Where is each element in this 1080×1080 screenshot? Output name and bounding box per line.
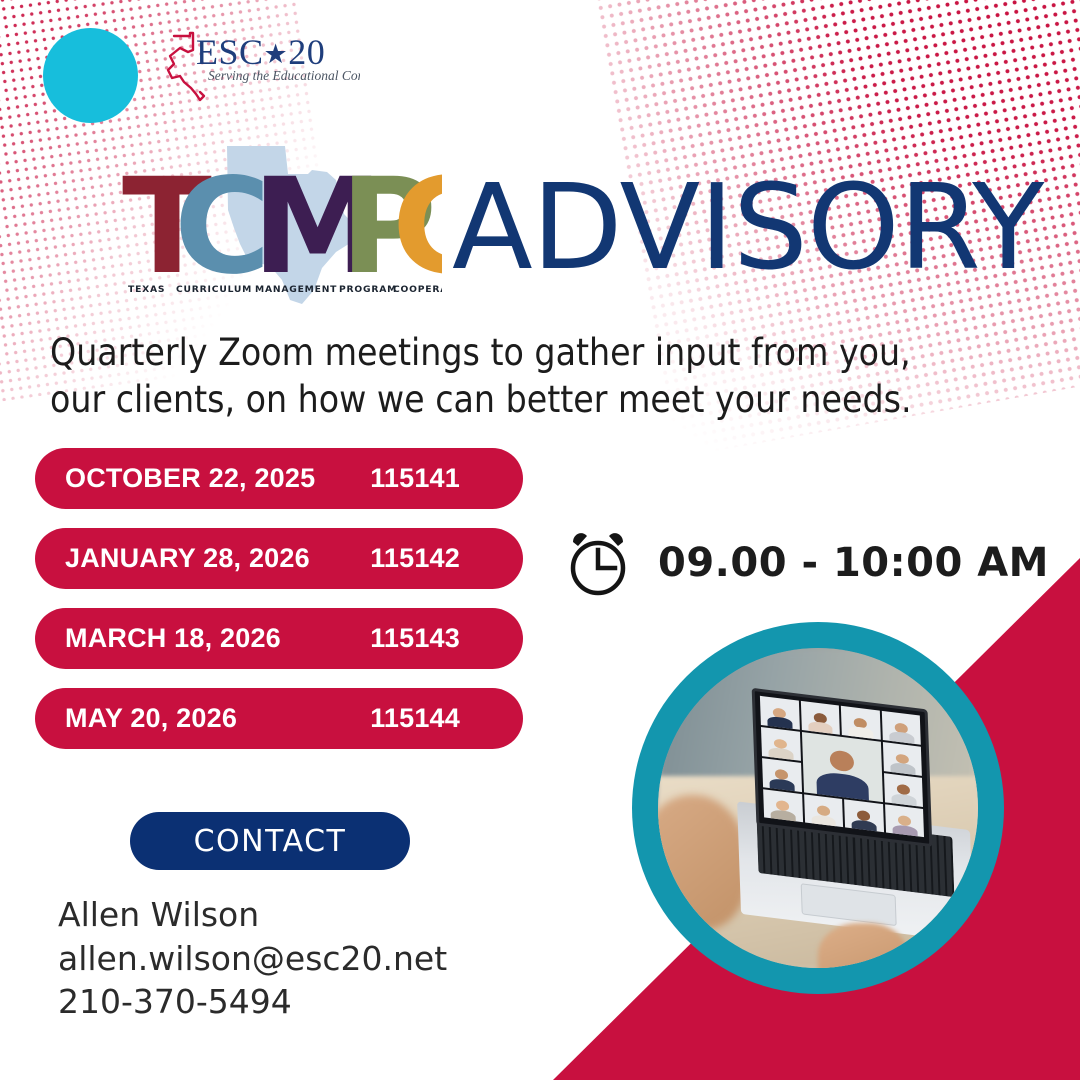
- participant-tile: [883, 742, 922, 776]
- session-pill[interactable]: MARCH 18, 2026 115143: [35, 608, 523, 669]
- meeting-time-text: 09.00 - 10:00 AM: [658, 540, 1049, 586]
- meeting-time-row: 09.00 - 10:00 AM: [560, 525, 1049, 601]
- photo-laptop: [754, 699, 978, 942]
- esc-logo-tagline: Serving the Educational Community: [208, 68, 360, 83]
- participant-tile: [804, 794, 843, 828]
- cyan-circle-decoration: [43, 28, 138, 123]
- video-conference-photo-circle: [632, 622, 1004, 994]
- description-line-1: Quarterly Zoom meetings to gather input …: [50, 330, 1040, 377]
- alarm-clock-icon: [560, 525, 636, 601]
- esc20-logo: ESC★20 Serving the Educational Community: [160, 30, 360, 112]
- page-title: ADVISORY: [452, 168, 1043, 286]
- esc-logo-text: ESC★20: [196, 32, 325, 72]
- tcmpc-word-texas: TEXAS: [128, 284, 165, 295]
- session-code: 115141: [370, 463, 460, 494]
- participant-tile: [761, 727, 800, 761]
- session-code: 115144: [370, 703, 460, 734]
- participant-tile: [881, 711, 920, 745]
- participant-tile: [800, 701, 839, 735]
- session-date: MARCH 18, 2026: [65, 623, 281, 654]
- session-pill[interactable]: OCTOBER 22, 2025 115141: [35, 448, 523, 509]
- tcmpc-word-cooperative: COOPERATIVE: [393, 284, 442, 295]
- participant-tile: [841, 706, 880, 740]
- contact-button[interactable]: CONTACT: [130, 812, 410, 870]
- session-date: MAY 20, 2026: [65, 703, 237, 734]
- session-date: JANUARY 28, 2026: [65, 543, 310, 574]
- flyer-canvas: ESC★20 Serving the Educational Community…: [0, 0, 1080, 1080]
- participant-tile: [762, 758, 801, 792]
- tcmpc-word-curriculum: CURRICULUM: [176, 284, 252, 295]
- session-date: OCTOBER 22, 2025: [65, 463, 315, 494]
- contact-details: Allen Wilson allen.wilson@esc20.net 210-…: [58, 893, 447, 1024]
- laptop-trackpad: [801, 883, 897, 926]
- tcmpc-word-management: MANAGEMENT: [255, 284, 337, 295]
- video-grid: [760, 696, 924, 840]
- participant-tile: [885, 804, 924, 838]
- contact-name: Allen Wilson: [58, 893, 447, 937]
- participant-tile: [844, 799, 883, 833]
- session-pill[interactable]: MAY 20, 2026 115144: [35, 688, 523, 749]
- photo-hand-right: [818, 923, 908, 968]
- participant-tile: [884, 773, 923, 807]
- video-conference-photo: [658, 648, 978, 968]
- session-code: 115143: [370, 623, 460, 654]
- participant-tile: [760, 696, 799, 730]
- description-text: Quarterly Zoom meetings to gather input …: [50, 330, 1040, 424]
- tcmpc-logo: T C M P C TEXAS CURRICULUM MANAGEMENT PR…: [122, 140, 442, 306]
- description-line-2: our clients, on how we can better meet y…: [50, 377, 1040, 424]
- active-speaker-tile: [802, 732, 883, 802]
- laptop-screen: [752, 688, 933, 848]
- participant-tile: [763, 789, 802, 823]
- session-pill[interactable]: JANUARY 28, 2026 115142: [35, 528, 523, 589]
- session-code: 115142: [370, 543, 460, 574]
- tcmpc-word-program: PROGRAM: [339, 284, 397, 295]
- tcmpc-letter-c2: C: [392, 150, 442, 304]
- session-list: OCTOBER 22, 2025 115141 JANUARY 28, 2026…: [35, 448, 525, 768]
- contact-phone[interactable]: 210-370-5494: [58, 980, 447, 1024]
- contact-email[interactable]: allen.wilson@esc20.net: [58, 937, 447, 981]
